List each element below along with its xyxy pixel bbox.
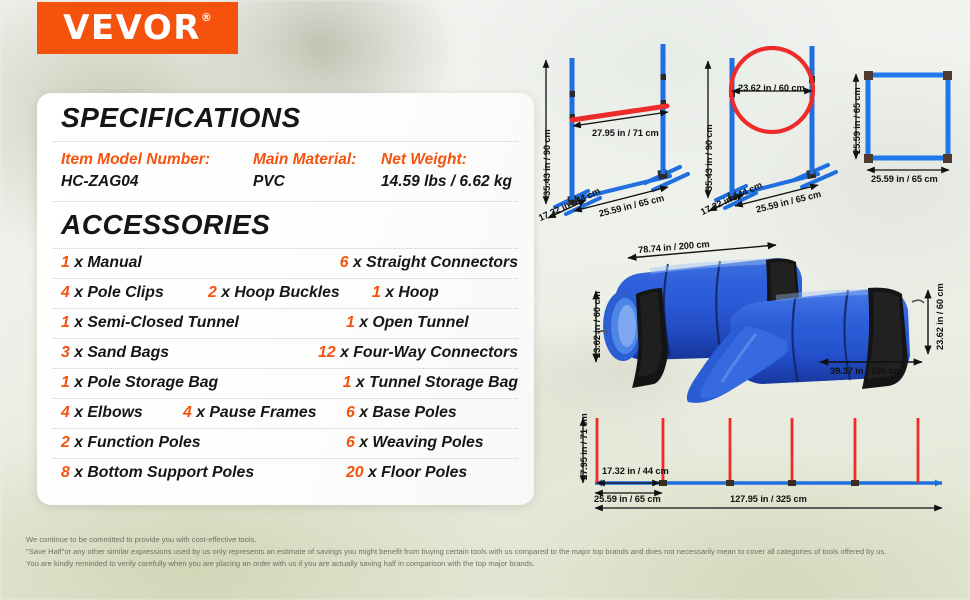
accessory-qty: 2 xyxy=(208,284,217,301)
accessory-item: 1 x Open Tunnel xyxy=(346,314,469,333)
accessory-multiplier: x xyxy=(196,404,205,421)
accessory-item: 2 x Function Poles xyxy=(61,434,346,453)
accessory-item: 20 x Floor Poles xyxy=(346,464,467,483)
disclaimer-line: "Save Half"or any other similar expressi… xyxy=(26,546,956,558)
registered-trademark-symbol: ® xyxy=(201,12,212,23)
accessory-multiplier: x xyxy=(74,344,83,361)
accessory-qty: 1 xyxy=(61,374,70,391)
accessory-qty: 1 xyxy=(61,254,70,271)
accessory-name: Tunnel Storage Bag xyxy=(369,374,518,391)
accessory-item: 1 x Tunnel Storage Bag xyxy=(343,374,518,393)
accessory-row: 1 x Semi-Closed Tunnel 1 x Open Tunnel xyxy=(53,309,518,338)
accessory-multiplier: x xyxy=(340,344,349,361)
accessory-name: Base Poles xyxy=(372,404,456,421)
accessory-multiplier: x xyxy=(74,314,83,331)
accessory-qty: 12 xyxy=(318,344,336,361)
accessory-row: 4 x Elbows 4 x Pause Frames 6 x Base Pol… xyxy=(53,399,518,428)
accessory-name: Hoop Buckles xyxy=(234,284,339,301)
spec-value: 14.59 lbs / 6.62 kg xyxy=(381,171,512,193)
accessory-multiplier: x xyxy=(221,284,230,301)
accessory-name: Function Poles xyxy=(87,434,200,451)
spec-label: Net Weight: xyxy=(381,149,512,171)
specifications-grid: Item Model Number: HC-ZAG04 Main Materia… xyxy=(53,142,518,201)
pause-frame-diagram: 25.59 in / 65 cm 25.59 in / 65 cm xyxy=(836,30,968,210)
frame-elbow xyxy=(864,71,873,80)
accessory-name: Semi-Closed Tunnel xyxy=(87,314,239,331)
accessory-qty: 20 xyxy=(346,464,364,481)
four-way-connector xyxy=(659,480,667,486)
accessory-name: Manual xyxy=(87,254,141,271)
frame-elbow xyxy=(864,154,873,163)
accessory-qty: 4 xyxy=(183,404,192,421)
accessory-item: 6 x Straight Connectors xyxy=(340,254,518,273)
weave-base-segment-label: 25.59 in / 65 cm xyxy=(594,494,661,504)
spec-label: Item Model Number: xyxy=(61,149,253,171)
tunnel-long-diameter-label: 23.62 in / 60 cm xyxy=(592,291,602,358)
accessory-item: 8 x Bottom Support Poles xyxy=(61,464,346,483)
hurdle-crossbar xyxy=(572,106,667,120)
accessory-name: Elbows xyxy=(87,404,142,421)
frame-elbow xyxy=(943,71,952,80)
accessory-name: Straight Connectors xyxy=(366,254,518,271)
accessory-qty: 6 xyxy=(340,254,349,271)
accessory-name: Weaving Poles xyxy=(372,434,483,451)
accessory-multiplier: x xyxy=(385,284,394,301)
disclaimer-text: We continue to be committed to provide y… xyxy=(26,534,956,570)
pause-frame-height-label: 25.59 in / 65 cm xyxy=(852,87,862,154)
tunnel-short-diameter-label: 23.62 in / 60 cm xyxy=(935,283,945,350)
vevor-logo: VEVOR® xyxy=(37,2,238,54)
accessory-item: 4 x Elbows xyxy=(61,404,183,423)
accessory-multiplier: x xyxy=(74,374,83,391)
weave-pole-height-label: 27.95 in / 71 cm xyxy=(579,413,589,480)
accessory-row: 1 x Pole Storage Bag 1 x Tunnel Storage … xyxy=(53,369,518,398)
hurdle-bar-width-label: 27.95 in / 71 cm xyxy=(592,128,659,138)
frame-elbow xyxy=(943,154,952,163)
spec-value: PVC xyxy=(253,171,381,193)
accessory-row: 8 x Bottom Support Poles 20 x Floor Pole… xyxy=(53,459,518,488)
accessory-name: Pole Clips xyxy=(87,284,163,301)
spec-field-material: Main Material: PVC xyxy=(253,149,381,193)
spec-field-weight: Net Weight: 14.59 lbs / 6.62 kg xyxy=(381,149,512,193)
accessory-qty: 8 xyxy=(61,464,70,481)
accessory-multiplier: x xyxy=(353,254,362,271)
accessory-name: Sand Bags xyxy=(87,344,169,361)
accessory-item: 4 x Pole Clips xyxy=(61,284,208,303)
accessory-item: 4 x Pause Frames xyxy=(183,404,346,423)
specifications-card: SPECIFICATIONS Item Model Number: HC-ZAG… xyxy=(37,93,534,505)
tunnel-hook xyxy=(912,300,924,303)
accessory-item: 6 x Base Poles xyxy=(346,404,457,423)
accessory-multiplier: x xyxy=(74,464,83,481)
disclaimer-line: You are kindly reminded to verify carefu… xyxy=(26,558,956,570)
accessory-row: 4 x Pole Clips 2 x Hoop Buckles 1 x Hoop xyxy=(53,279,518,308)
spec-value: HC-ZAG04 xyxy=(61,171,253,193)
accessory-multiplier: x xyxy=(359,434,368,451)
accessory-qty: 1 xyxy=(372,284,381,301)
pole-clip xyxy=(661,74,667,80)
accessory-item: 3 x Sand Bags xyxy=(61,344,318,363)
brand-wordmark: VEVOR® xyxy=(63,11,212,45)
hoop-diagram: 35.43 in / 90 cm 23.62 in / 60 cm 17.32 … xyxy=(698,28,858,240)
four-way-connector xyxy=(788,480,796,486)
accessory-multiplier: x xyxy=(74,404,83,421)
spec-label: Main Material: xyxy=(253,149,381,171)
accessory-item: 1 x Manual xyxy=(61,254,340,273)
weave-total-length-label: 127.95 in / 325 cm xyxy=(730,494,807,504)
hurdle-height-label: 35.43 in / 90 cm xyxy=(542,129,552,196)
accessory-row: 3 x Sand Bags 12 x Four-Way Connectors xyxy=(53,339,518,368)
accessory-item: 12 x Four-Way Connectors xyxy=(318,344,518,363)
accessory-name: Hoop xyxy=(398,284,438,301)
hoop-height-label: 35.43 in / 90 cm xyxy=(704,124,714,191)
weave-poles-diagram: 27.95 in / 71 cm 17.32 in / 44 cm 25.59 … xyxy=(570,404,968,516)
accessory-multiplier: x xyxy=(368,464,377,481)
accessory-name: Floor Poles xyxy=(381,464,467,481)
four-way-connector xyxy=(726,480,734,486)
accessory-multiplier: x xyxy=(74,434,83,451)
accessory-name: Pause Frames xyxy=(209,404,316,421)
tunnel-diagram: 78.74 in / 200 cm 23.62 in / 60 cm 23.62… xyxy=(580,238,970,398)
hurdle-diagram: 35.43 in / 90 cm 27.95 in / 71 cm 17.32 … xyxy=(520,28,715,240)
accessory-name: Pole Storage Bag xyxy=(87,374,218,391)
accessory-qty: 1 xyxy=(343,374,352,391)
pause-frame-square xyxy=(868,75,948,158)
disclaimer-line: We continue to be committed to provide y… xyxy=(26,534,956,546)
accessory-qty: 1 xyxy=(346,314,355,331)
accessory-qty: 4 xyxy=(61,284,70,301)
pole-clip xyxy=(570,91,576,97)
accessories-heading: ACCESSORIES xyxy=(53,202,518,248)
specifications-heading: SPECIFICATIONS xyxy=(53,93,518,141)
tunnel-short-length-label: 39.37 in / 100 cm xyxy=(830,366,902,376)
accessory-qty: 3 xyxy=(61,344,70,361)
accessory-name: Four-Way Connectors xyxy=(353,344,518,361)
accessory-multiplier: x xyxy=(74,284,83,301)
accessory-multiplier: x xyxy=(356,374,365,391)
accessory-multiplier: x xyxy=(74,254,83,271)
accessory-item: 1 x Hoop xyxy=(372,284,439,303)
accessory-qty: 6 xyxy=(346,404,355,421)
accessory-multiplier: x xyxy=(359,404,368,421)
accessory-qty: 2 xyxy=(61,434,70,451)
accessory-multiplier: x xyxy=(359,314,368,331)
weave-first-spacing-label: 17.32 in / 44 cm xyxy=(602,466,669,476)
spec-field-model: Item Model Number: HC-ZAG04 xyxy=(61,149,253,193)
hoop-diameter-label: 23.62 in / 60 cm xyxy=(738,83,805,93)
accessory-row: 2 x Function Poles 6 x Weaving Poles xyxy=(53,429,518,458)
pause-frame-width-label: 25.59 in / 65 cm xyxy=(871,174,938,184)
brand-name-text: VEVOR xyxy=(63,8,201,48)
accessory-qty: 4 xyxy=(61,404,70,421)
accessory-item: 1 x Pole Storage Bag xyxy=(61,374,343,393)
accessory-qty: 6 xyxy=(346,434,355,451)
accessory-item: 2 x Hoop Buckles xyxy=(208,284,372,303)
accessory-item: 6 x Weaving Poles xyxy=(346,434,484,453)
four-way-connector xyxy=(851,480,859,486)
accessory-name: Bottom Support Poles xyxy=(87,464,254,481)
accessory-name: Open Tunnel xyxy=(372,314,468,331)
accessory-item: 1 x Semi-Closed Tunnel xyxy=(61,314,346,333)
accessory-row: 1 x Manual 6 x Straight Connectors xyxy=(53,249,518,278)
accessory-qty: 1 xyxy=(61,314,70,331)
